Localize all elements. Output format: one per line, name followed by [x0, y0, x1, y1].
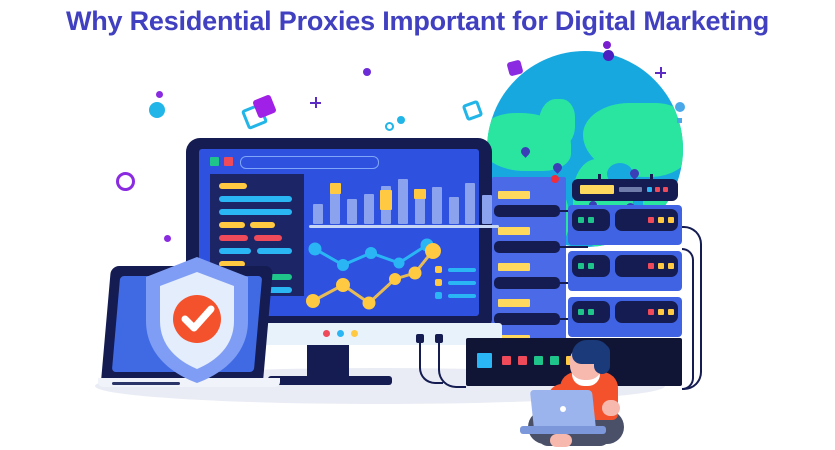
rack-led-green [588, 263, 594, 269]
person-with-laptop [514, 348, 632, 450]
code-line [219, 248, 251, 254]
line-point [389, 273, 401, 285]
purple-ring-icon [116, 172, 135, 191]
line-point [394, 258, 405, 269]
cyan-dot-icon [149, 102, 165, 118]
bar [432, 187, 442, 224]
code-line [257, 248, 292, 254]
window-control-red[interactable] [224, 157, 233, 166]
monitor-cable [438, 338, 466, 388]
purple-plus-right-icon [655, 67, 666, 78]
tower-indicator-bar [498, 299, 530, 307]
tower-connector [560, 246, 588, 248]
top-panel-led [663, 187, 668, 192]
rack-led-yellow [658, 309, 664, 315]
line-chart [307, 235, 437, 311]
top-panel-bar [580, 185, 614, 194]
code-line [219, 222, 245, 228]
bar-highlight [380, 190, 392, 210]
cyan-square-icon [462, 100, 484, 122]
cyan-pixel-icon [677, 118, 682, 123]
illustration-stage [0, 48, 835, 450]
cyan-ring-small-icon [385, 122, 394, 131]
code-line [219, 183, 247, 189]
shield-check-circle [173, 295, 221, 343]
purple-dot-icon [363, 68, 371, 76]
page-root: Why Residential Proxies Important for Di… [0, 0, 835, 450]
monitor-status-dot-yellow [351, 330, 358, 337]
page-title: Why Residential Proxies Important for Di… [0, 6, 835, 37]
bar [398, 179, 408, 224]
cable-plug [416, 334, 424, 343]
purple-dot-top-icon [603, 50, 614, 61]
chart-legend [435, 266, 477, 302]
bar [364, 194, 374, 224]
line-point [425, 243, 441, 259]
tower-indicator-bar [498, 227, 530, 235]
monitor-status-dot-blue [337, 330, 344, 337]
person-hand [602, 400, 620, 416]
line-point [309, 243, 322, 256]
bar [449, 197, 459, 224]
bar [482, 195, 492, 224]
window-control-green[interactable] [210, 157, 219, 166]
bar-highlight [414, 189, 426, 199]
cyan-dot-right-icon [675, 102, 685, 112]
rack-led-yellow [668, 263, 674, 269]
tower-indicator-bar [498, 263, 530, 271]
person-foot [550, 434, 572, 447]
legend-swatch [435, 292, 442, 299]
purple-dot-under-title-icon [603, 41, 611, 49]
tower-slot [494, 313, 560, 325]
tower-slot [494, 241, 560, 253]
code-line [219, 209, 292, 215]
person-laptop-logo [560, 406, 566, 412]
rack-led-red [648, 309, 654, 315]
rack-led-green [578, 309, 584, 315]
code-line [219, 196, 292, 202]
line-point [336, 278, 350, 292]
line-point [337, 259, 349, 271]
top-panel-stem [650, 174, 653, 181]
rack-led-green [578, 263, 584, 269]
rack-led-yellow [668, 217, 674, 223]
server-tower [492, 177, 566, 360]
top-panel-led [655, 187, 660, 192]
rack-led-yellow [658, 217, 664, 223]
globe-land-greenland [539, 99, 575, 147]
bar [465, 183, 475, 224]
purple-dot-small-icon [156, 91, 163, 98]
monitor-base [268, 376, 392, 385]
rack-cable [682, 248, 694, 390]
line-point [306, 294, 320, 308]
tower-alert-dot [551, 175, 559, 183]
tower-slot [494, 277, 560, 289]
base-led-red [502, 356, 511, 365]
legend-bar [448, 281, 476, 285]
cyan-dot-small-icon [397, 116, 405, 124]
line-point [365, 247, 377, 259]
rack-led-green [588, 217, 594, 223]
code-line [219, 235, 248, 241]
bar-chart-axis [309, 225, 499, 228]
base-led-cyan[interactable] [477, 353, 492, 368]
legend-swatch [435, 279, 442, 286]
line-point [363, 297, 376, 310]
rack-led-green [588, 309, 594, 315]
rack-led-green [578, 217, 584, 223]
top-panel-stem [598, 174, 601, 181]
code-line [250, 222, 275, 228]
top-panel-bar-2 [619, 187, 642, 192]
person-laptop-base [520, 426, 606, 434]
person-hair-back [594, 344, 610, 374]
bar [347, 199, 357, 224]
address-bar[interactable] [240, 156, 379, 169]
cable-plug [435, 334, 443, 343]
security-shield [140, 255, 254, 385]
rack-led-red [648, 217, 654, 223]
legend-bar [448, 294, 476, 298]
tower-indicator-bar [498, 191, 530, 199]
line-point [409, 267, 422, 280]
bar-chart [313, 176, 469, 228]
rack-led-yellow [668, 309, 674, 315]
legend-bar [448, 268, 476, 272]
bar-highlight [330, 183, 341, 194]
code-line [254, 235, 282, 241]
top-panel-led [647, 187, 652, 192]
legend-swatch [435, 266, 442, 273]
tower-slot [494, 205, 560, 217]
monitor-status-dot-red [323, 330, 330, 337]
purple-plus-icon [310, 97, 321, 108]
rack-led-red [648, 263, 654, 269]
bar [313, 204, 323, 224]
purple-dot-small-icon [164, 235, 171, 242]
rack-led-yellow [658, 263, 664, 269]
